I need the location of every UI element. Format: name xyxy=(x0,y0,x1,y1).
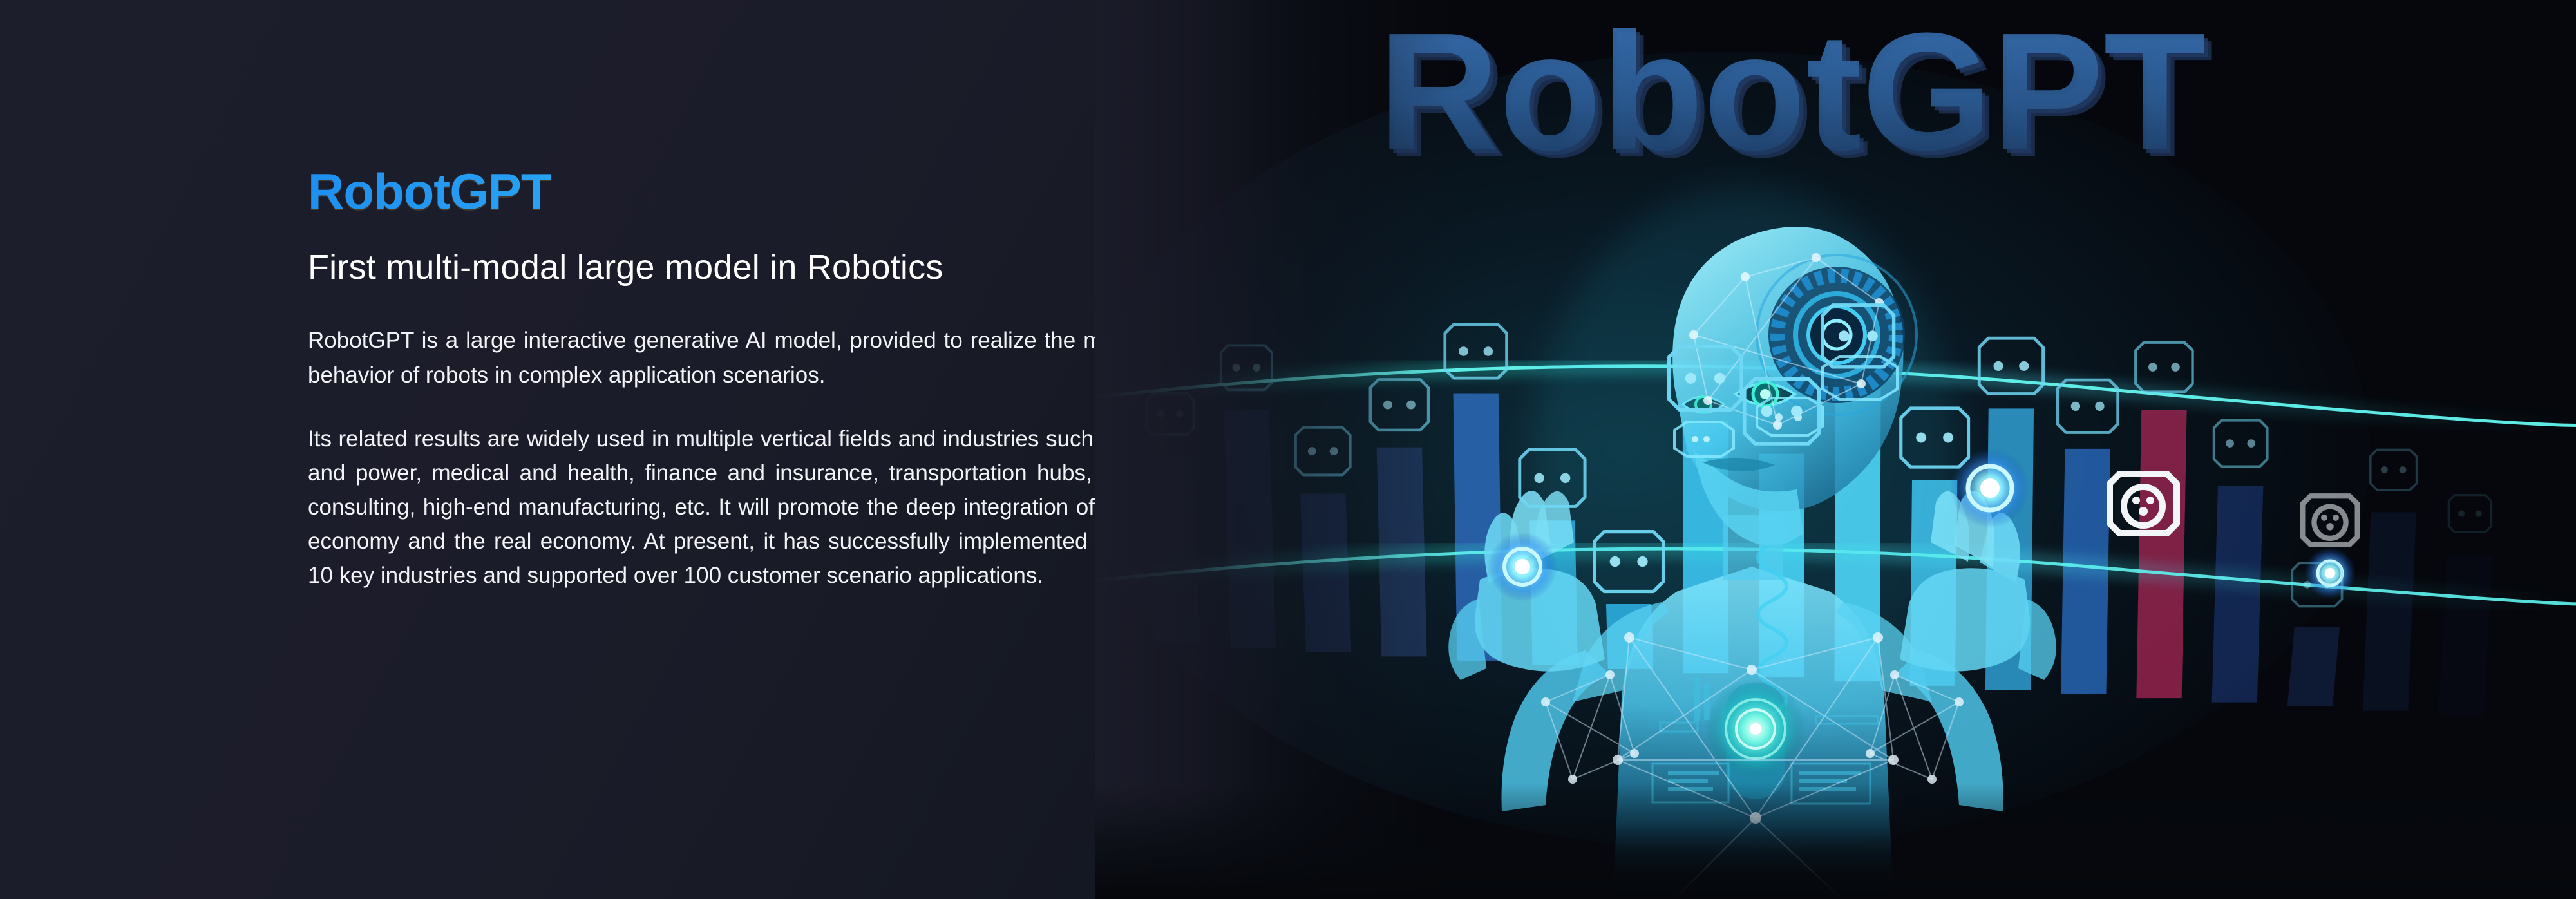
hero-paragraph-1: RobotGPT is a large interactive generati… xyxy=(308,323,1200,392)
touch-point-right xyxy=(1950,448,2030,528)
hero-paragraph-2: Its related results are widely used in m… xyxy=(308,422,1200,593)
chart-bar xyxy=(1300,494,1351,652)
chart-bar xyxy=(1147,457,1200,644)
hero-artwork: RobotGPT RobotGPT RobotGPT RobotGPT xyxy=(1095,0,2576,899)
hero-copy: RobotGPT First multi-modal large model i… xyxy=(308,166,1209,593)
touch-point-far-right xyxy=(2304,547,2356,599)
chart-bar xyxy=(1224,410,1276,648)
svg-text:RobotGPT: RobotGPT xyxy=(1378,0,2206,185)
touch-point-left xyxy=(1488,532,1557,601)
page-title: RobotGPT xyxy=(308,166,1209,216)
hero-banner: RobotGPT First multi-modal large model i… xyxy=(0,0,2576,899)
backdrop-wordmark: RobotGPT RobotGPT RobotGPT RobotGPT xyxy=(1378,0,2213,193)
chart-bar-highlight xyxy=(2136,410,2186,698)
chart-bar xyxy=(2363,513,2416,711)
chart-bar xyxy=(2212,486,2264,703)
chart-bar xyxy=(2287,627,2340,706)
robot-chart-illustration: RobotGPT RobotGPT RobotGPT RobotGPT xyxy=(1095,0,2576,899)
chart-bar xyxy=(2438,556,2492,715)
hero-tagline: First multi-modal large model in Robotic… xyxy=(308,249,1209,286)
